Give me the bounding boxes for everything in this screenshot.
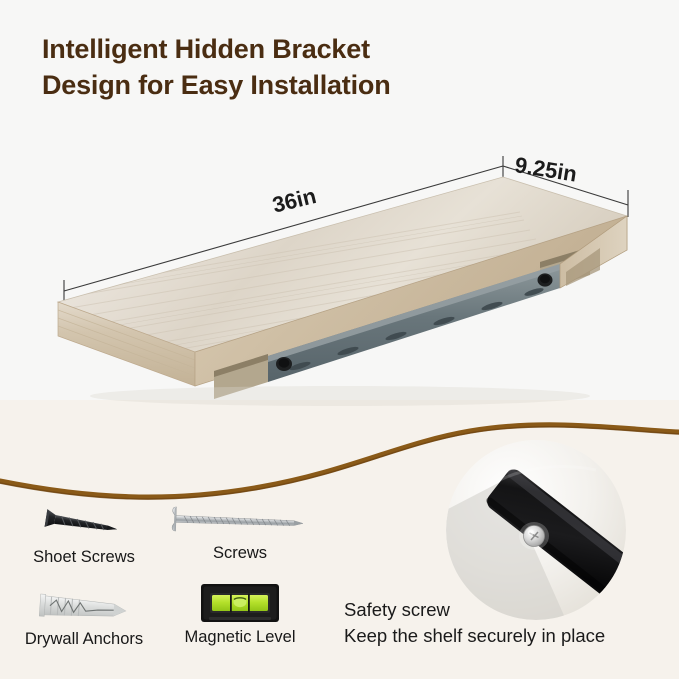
silver-screw-icon: [160, 496, 320, 542]
safety-screw-photo: [446, 440, 626, 620]
screw-art: [160, 496, 320, 542]
magnetic-level-art: [160, 580, 320, 626]
safety-screw-closeup: [446, 440, 626, 620]
drywall-anchor-art: [4, 582, 164, 628]
accessory-shoet-screws: Shoet Screws: [4, 500, 164, 566]
infographic-page: Intelligent Hidden Bracket Design for Ea…: [0, 0, 679, 679]
accessory-label: Screws: [160, 544, 320, 562]
headline-line-2: Design for Easy Installation: [42, 68, 642, 104]
black-screw-icon: [4, 500, 164, 546]
accessory-label: Magnetic Level: [160, 628, 320, 646]
accessory-label: Drywall Anchors: [4, 630, 164, 648]
headline-line-1: Intelligent Hidden Bracket: [42, 34, 370, 64]
callout-line-2: Keep the shelf securely in place: [344, 623, 674, 649]
callout-line-1: Safety screw: [344, 597, 674, 623]
safety-screw-callout: Safety screw Keep the shelf securely in …: [344, 597, 674, 650]
accessory-drywall-anchors: Drywall Anchors: [4, 582, 164, 648]
page-title: Intelligent Hidden Bracket Design for Ea…: [42, 32, 642, 104]
accessory-magnetic-level: Magnetic Level: [160, 580, 320, 646]
bubble-level-icon: [160, 580, 320, 626]
accessory-screws: Screws: [160, 496, 320, 562]
shoet-screw-art: [4, 500, 164, 546]
accessory-label: Shoet Screws: [4, 548, 164, 566]
drywall-anchor-icon: [4, 582, 164, 628]
